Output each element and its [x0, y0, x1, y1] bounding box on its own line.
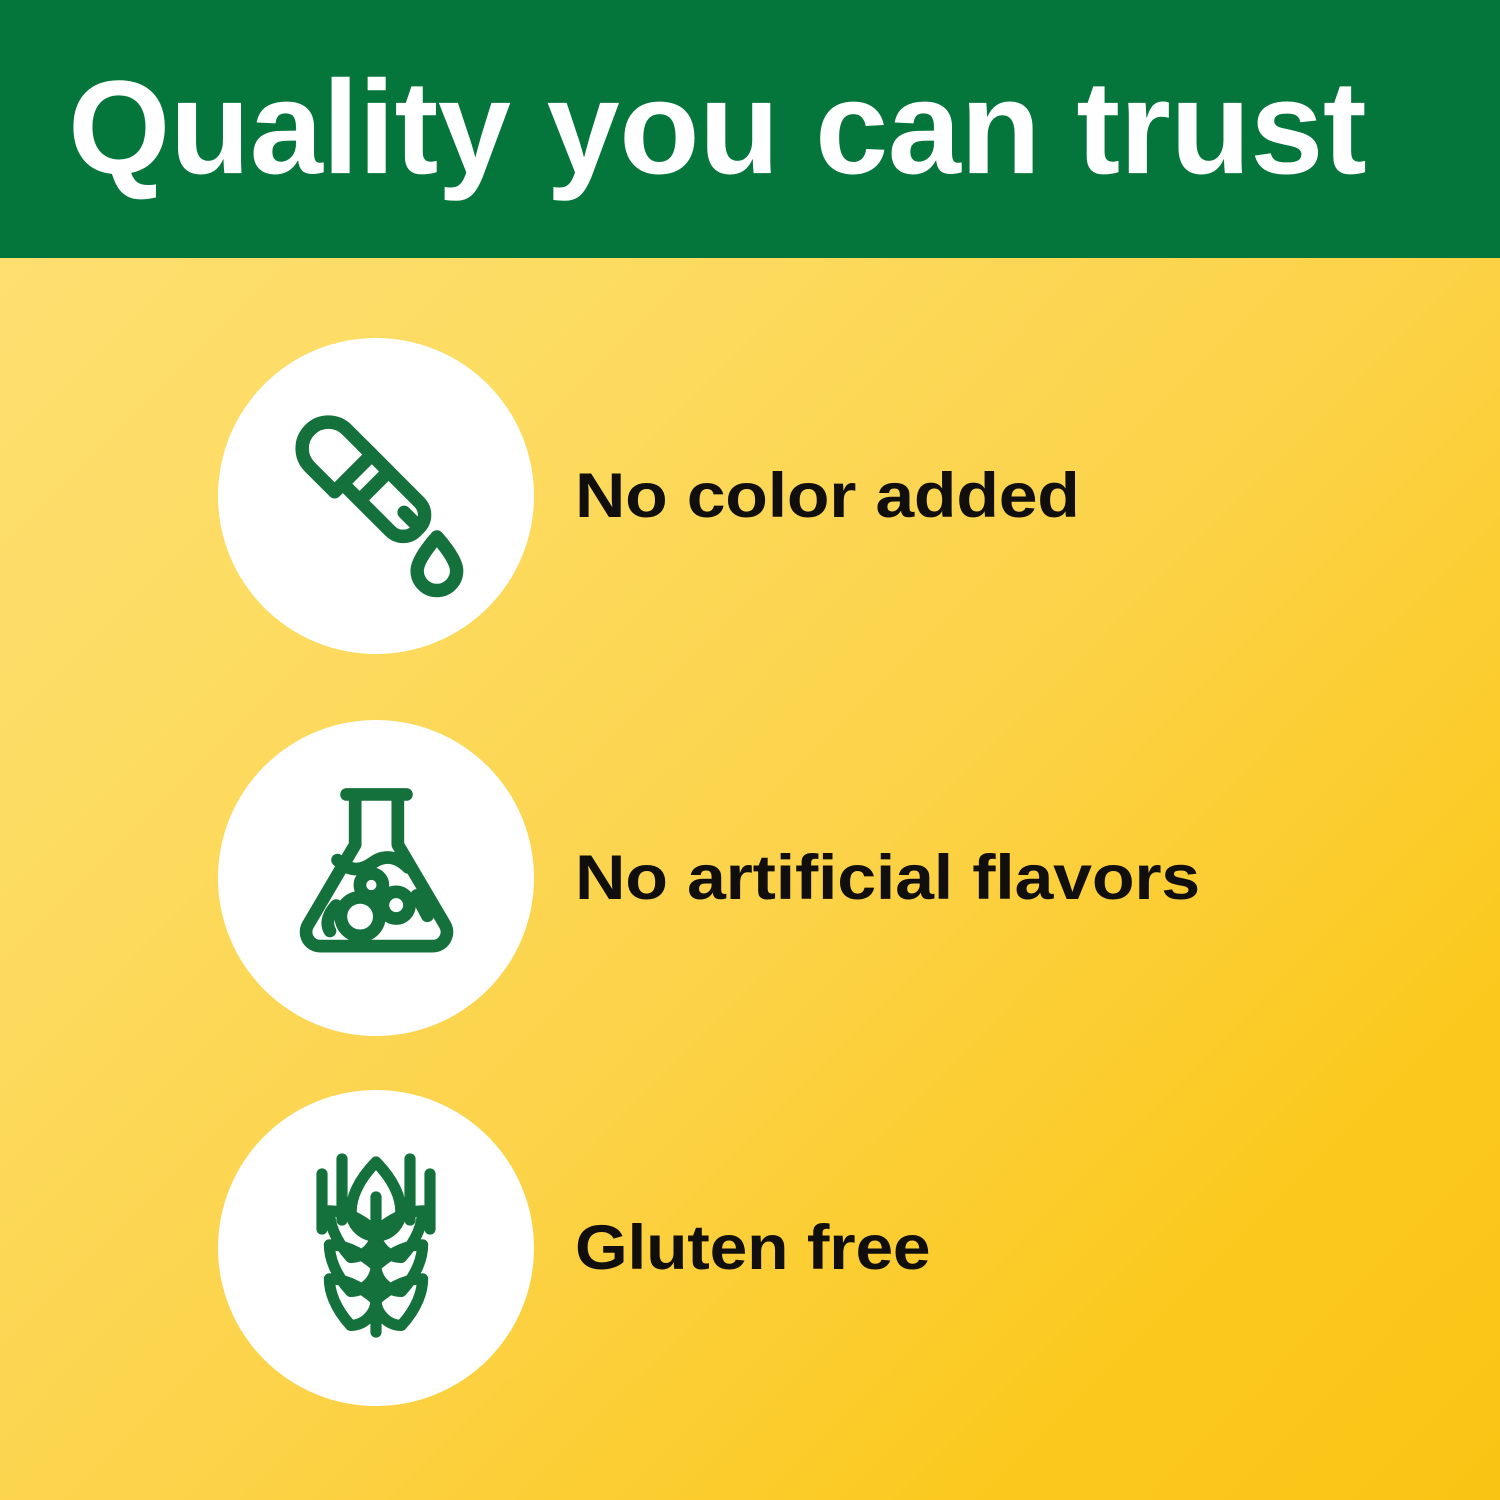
feature-row: Gluten free — [0, 1090, 1500, 1406]
wheat-icon — [276, 1148, 476, 1348]
feature-label: Gluten free — [575, 1215, 930, 1281]
feature-list: No color added — [0, 258, 1500, 1500]
quality-claims-poster: Quality you can trust — [0, 0, 1500, 1500]
page-title: Quality you can trust — [68, 61, 1443, 197]
flask-icon — [274, 776, 479, 981]
icon-badge-dropper — [218, 338, 534, 654]
feature-row: No color added — [0, 338, 1500, 654]
icon-badge-flask — [218, 720, 534, 1036]
dropper-icon — [271, 391, 481, 601]
feature-row: No artificial flavors — [0, 720, 1500, 1036]
feature-label: No artificial flavors — [575, 845, 1200, 911]
header-banner: Quality you can trust — [0, 0, 1500, 258]
icon-badge-wheat — [218, 1090, 534, 1406]
feature-label: No color added — [575, 463, 1080, 529]
